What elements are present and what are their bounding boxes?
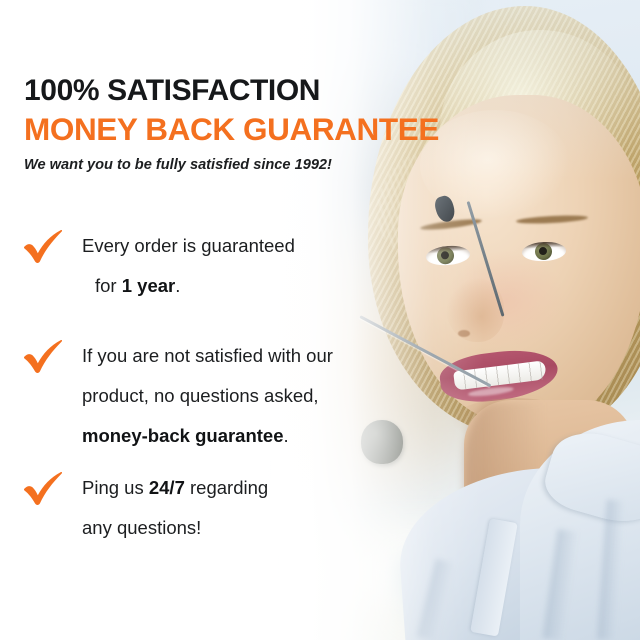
- bullet-1-line-1: Every order is guaranteed: [82, 226, 295, 266]
- list-item: If you are not satisfied with our produc…: [22, 336, 333, 456]
- list-item-text: Every order is guaranteed for 1 year.: [82, 226, 295, 306]
- bullet-2-line-2: product, no questions asked,: [82, 376, 333, 416]
- subtitle: We want you to be fully satisfied since …: [24, 157, 332, 173]
- bullet-3-line-1-suffix: regarding: [185, 477, 268, 498]
- list-item-text: Ping us 24/7 regarding any questions!: [82, 468, 268, 548]
- list-item: Every order is guaranteed for 1 year.: [22, 226, 295, 306]
- bullet-1-line-2-suffix: .: [175, 275, 180, 296]
- list-item: Ping us 24/7 regarding any questions!: [22, 468, 268, 548]
- eyelash-right: [522, 241, 566, 249]
- bullet-2-emphasis: money-back guarantee: [82, 425, 284, 446]
- guarantee-banner: 100% SATISFACTION MONEY BACK GUARANTEE W…: [0, 0, 640, 640]
- headline-line-1: 100% SATISFACTION: [24, 74, 320, 108]
- bullet-1-line-2: for 1 year.: [82, 266, 295, 306]
- headline-line-2: MONEY BACK GUARANTEE: [24, 111, 439, 148]
- bullet-3-line-2: any questions!: [82, 508, 268, 548]
- bullet-2-line-3-suffix: .: [284, 425, 289, 446]
- bullet-2-line-3: money-back guarantee.: [82, 416, 333, 456]
- list-item-text: If you are not satisfied with our produc…: [82, 336, 333, 456]
- text-panel: 100% SATISFACTION MONEY BACK GUARANTEE W…: [0, 0, 470, 640]
- bullet-1-emphasis: 1 year: [122, 275, 176, 296]
- bullet-3-line-1-prefix: Ping us: [82, 477, 149, 498]
- bullet-3-line-1: Ping us 24/7 regarding: [82, 468, 268, 508]
- orange-checkmark-icon: [22, 470, 64, 506]
- bullet-3-emphasis: 24/7: [149, 477, 185, 498]
- bullet-1-line-2-prefix: for: [95, 275, 122, 296]
- orange-checkmark-icon: [22, 338, 64, 374]
- bullet-2-line-1: If you are not satisfied with our: [82, 336, 333, 376]
- orange-checkmark-icon: [22, 228, 64, 264]
